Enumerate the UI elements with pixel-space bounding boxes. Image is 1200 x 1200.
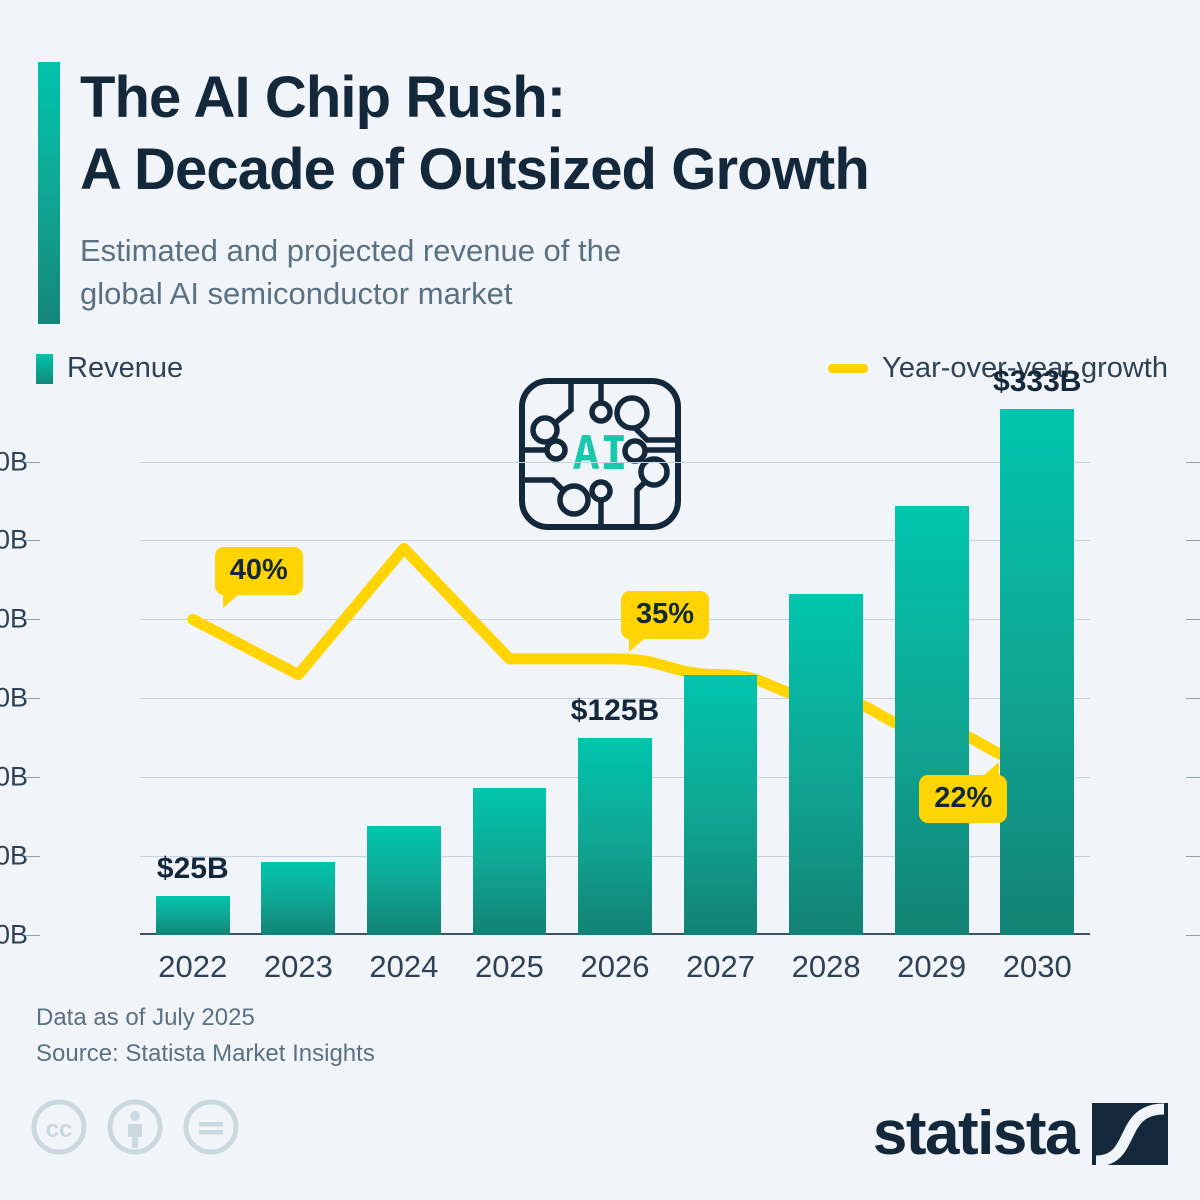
bar-value-label: $333B bbox=[993, 365, 1081, 399]
x-axis-label: 2022 bbox=[158, 949, 227, 985]
cc-icon: cc bbox=[30, 1098, 88, 1156]
footer-note: Data as of July 2025 Source: Statista Ma… bbox=[36, 1000, 375, 1073]
chart-plot-area: $0B$50B$100B$150B$200B$250B$300B0%10%20%… bbox=[140, 430, 1090, 935]
y-axis-tick-right bbox=[1186, 935, 1200, 936]
growth-callout-badge: 22% bbox=[919, 775, 1007, 823]
bar[interactable] bbox=[156, 896, 230, 935]
page-subtitle: Estimated and projected revenue of the g… bbox=[80, 230, 980, 316]
y-axis-label-left: $300B bbox=[0, 446, 28, 477]
y-axis-label-left: $0B bbox=[0, 920, 28, 951]
statista-mark-icon bbox=[1092, 1103, 1168, 1165]
x-axis-label: 2029 bbox=[897, 949, 966, 985]
growth-callout-badge: 35% bbox=[621, 591, 709, 639]
y-axis-tick-left bbox=[26, 462, 40, 463]
page-title: The AI Chip Rush: A Decade of Outsized G… bbox=[80, 62, 1140, 206]
y-axis-tick-right bbox=[1186, 619, 1200, 620]
y-axis-tick-left bbox=[26, 935, 40, 936]
bar[interactable] bbox=[789, 594, 863, 935]
callout-tail bbox=[629, 638, 645, 652]
legend-swatch-revenue bbox=[36, 354, 53, 384]
y-axis-tick-left bbox=[26, 856, 40, 857]
x-axis-label: 2023 bbox=[264, 949, 333, 985]
x-axis-label: 2028 bbox=[792, 949, 861, 985]
growth-callout-badge: 40% bbox=[215, 547, 303, 595]
gridline bbox=[140, 462, 1090, 463]
bar[interactable] bbox=[1000, 409, 1074, 935]
bar[interactable] bbox=[684, 675, 758, 935]
infographic-page: The AI Chip Rush: A Decade of Outsized G… bbox=[0, 0, 1200, 1200]
bar-value-label: $125B bbox=[571, 694, 659, 728]
y-axis-tick-left bbox=[26, 619, 40, 620]
statista-logo: statista bbox=[873, 1098, 1168, 1169]
y-axis-label-left: $100B bbox=[0, 762, 28, 793]
svg-text:cc: cc bbox=[46, 1116, 73, 1143]
y-axis-tick-right bbox=[1186, 856, 1200, 857]
legend-line-growth bbox=[828, 364, 868, 373]
y-axis-tick-right bbox=[1186, 777, 1200, 778]
bar[interactable] bbox=[367, 826, 441, 935]
y-axis-tick-left bbox=[26, 540, 40, 541]
bar[interactable] bbox=[473, 788, 547, 935]
x-axis-label: 2030 bbox=[1003, 949, 1072, 985]
y-axis-tick-right bbox=[1186, 462, 1200, 463]
callout-tail bbox=[223, 594, 239, 608]
y-axis-label-left: $200B bbox=[0, 604, 28, 635]
callout-tail bbox=[983, 762, 999, 776]
y-axis-label-left: $50B bbox=[0, 841, 28, 872]
x-axis-label: 2026 bbox=[581, 949, 650, 985]
y-axis-label-left: $150B bbox=[0, 683, 28, 714]
y-axis-tick-right bbox=[1186, 698, 1200, 699]
x-axis-label: 2027 bbox=[686, 949, 755, 985]
no-derivatives-equals-icon bbox=[182, 1098, 240, 1156]
bar-value-label: $25B bbox=[157, 852, 229, 886]
title-accent-bar bbox=[38, 62, 60, 324]
bar[interactable] bbox=[578, 738, 652, 935]
legend-item-revenue[interactable]: Revenue bbox=[36, 352, 183, 385]
statista-wordmark: statista bbox=[873, 1098, 1078, 1169]
bar[interactable] bbox=[895, 506, 969, 935]
creative-commons-icons: cc bbox=[30, 1098, 240, 1156]
y-axis-tick-right bbox=[1186, 540, 1200, 541]
attribution-person-icon bbox=[106, 1098, 164, 1156]
y-axis-tick-left bbox=[26, 698, 40, 699]
x-axis-label: 2024 bbox=[369, 949, 438, 985]
legend-label-revenue: Revenue bbox=[67, 352, 183, 385]
x-axis-label: 2025 bbox=[475, 949, 544, 985]
y-axis-label-left: $250B bbox=[0, 525, 28, 556]
y-axis-tick-left bbox=[26, 777, 40, 778]
bar[interactable] bbox=[261, 862, 335, 935]
